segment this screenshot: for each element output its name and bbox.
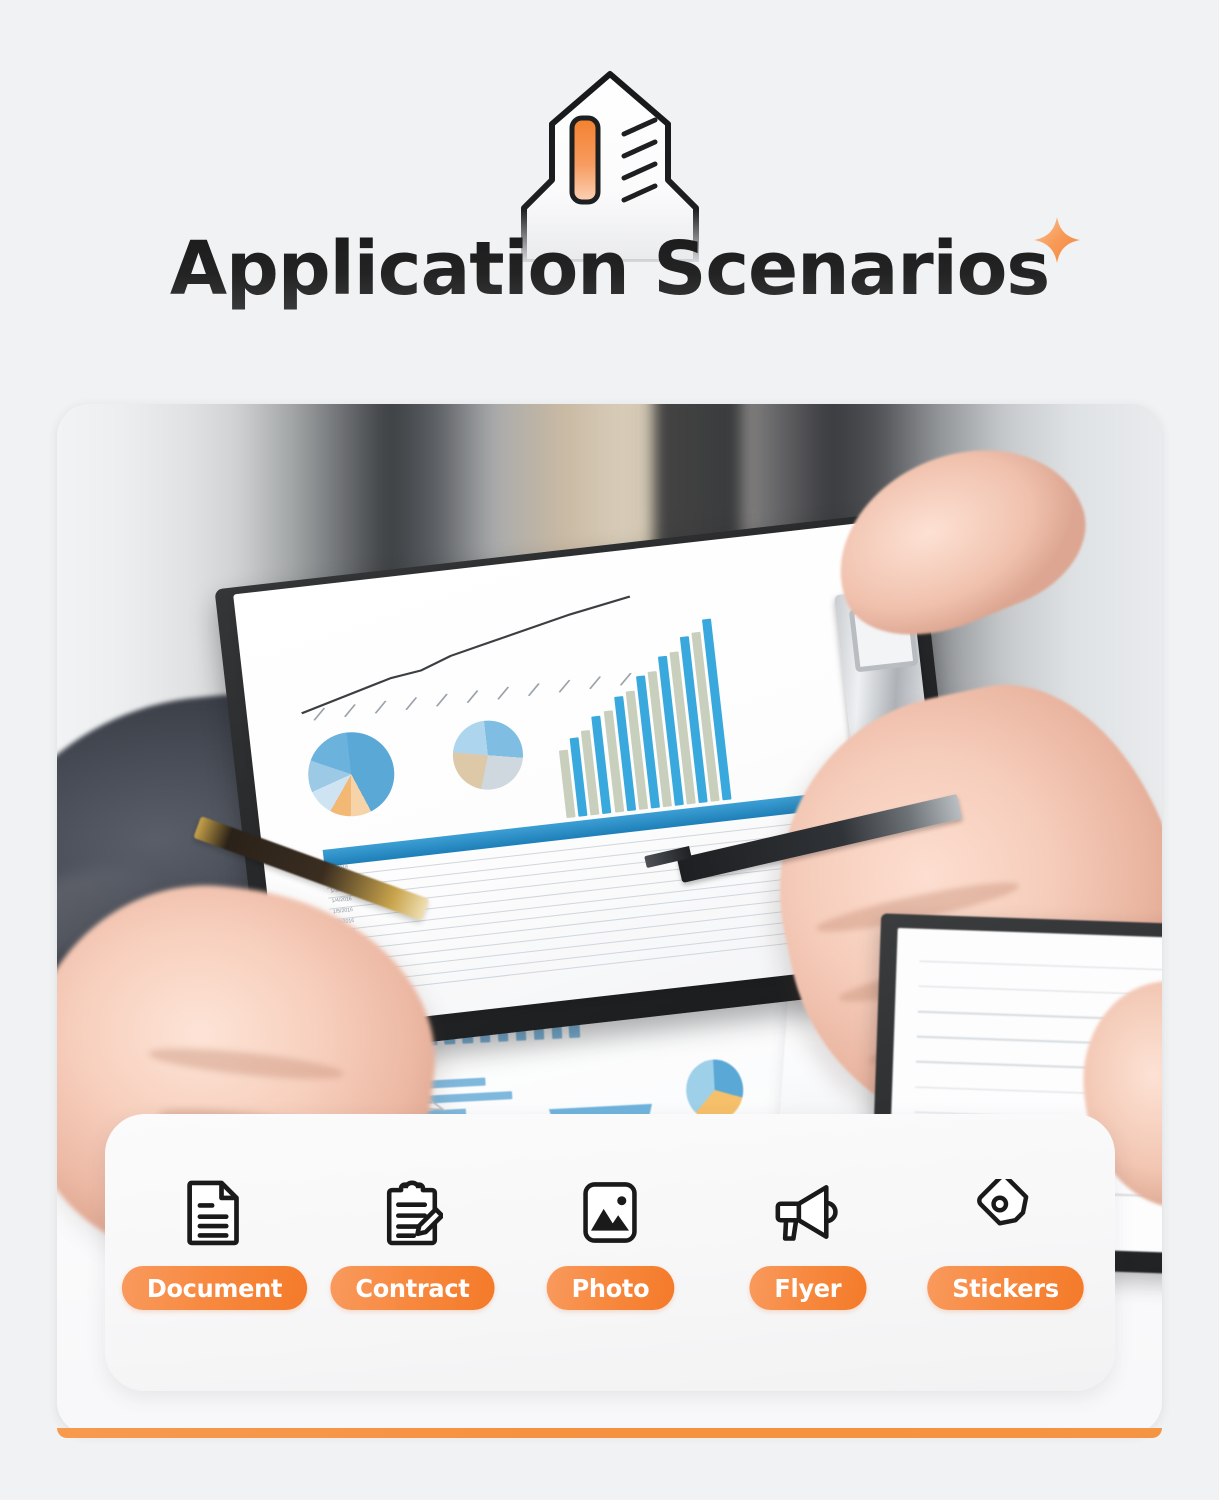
bottom-accent-rule (57, 1428, 1162, 1438)
badge-label[interactable]: Contract (330, 1266, 494, 1310)
scenario-badges-row: Document Contract (105, 1170, 1115, 1310)
megaphone-icon (773, 1170, 843, 1254)
badge-label[interactable]: Stickers (928, 1266, 1085, 1310)
badge-stickers[interactable]: Stickers (921, 1170, 1091, 1310)
badge-label[interactable]: Photo (546, 1266, 674, 1310)
badge-contract[interactable]: Contract (327, 1170, 497, 1310)
badge-photo[interactable]: Photo (525, 1170, 695, 1310)
tag-icon (974, 1170, 1038, 1254)
scenario-badges-card: Document Contract (105, 1114, 1115, 1391)
page-title: Application Scenarios (170, 226, 1049, 312)
badge-label[interactable]: Flyer (750, 1266, 867, 1310)
badge-flyer[interactable]: Flyer (723, 1170, 893, 1310)
page-title-row: Application Scenarios (0, 232, 1219, 306)
image-icon (581, 1170, 639, 1254)
sparkle-icon (1031, 214, 1083, 266)
page-header: Application Scenarios (0, 0, 1219, 390)
report-pie-chart-2 (449, 717, 526, 793)
report-pie-chart-1 (304, 728, 399, 821)
clipboard-pencil-icon (381, 1170, 443, 1254)
document-icon (184, 1170, 244, 1254)
badge-document[interactable]: Document (129, 1170, 299, 1310)
badge-label[interactable]: Document (121, 1266, 306, 1310)
